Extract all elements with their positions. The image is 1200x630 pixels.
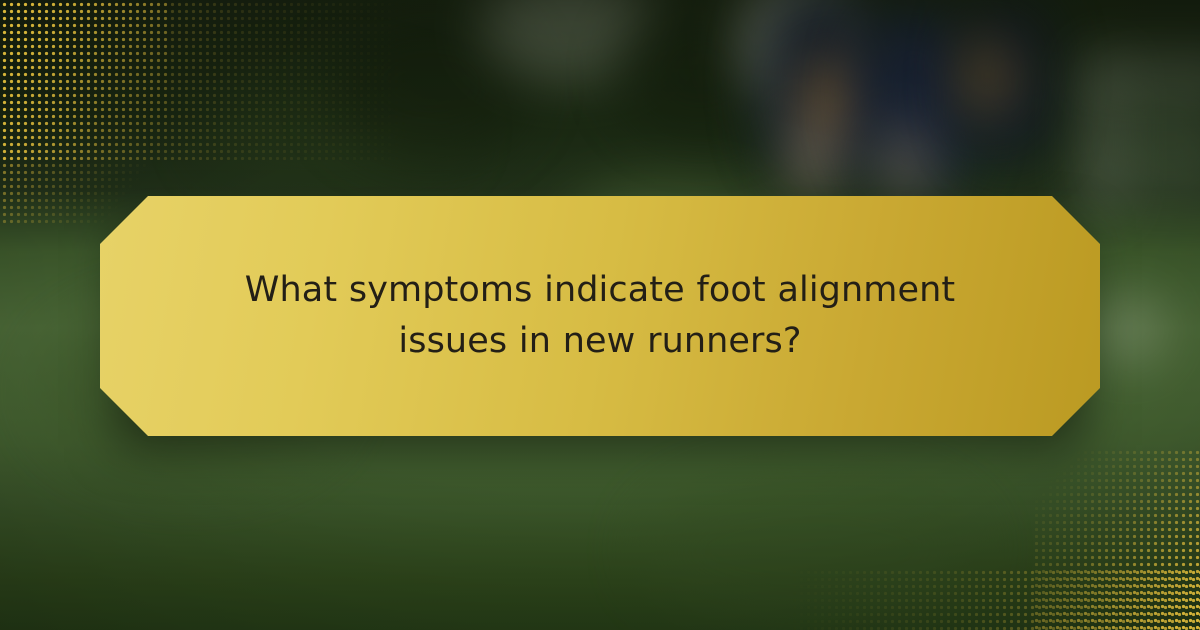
question-text: What symptoms indicate foot alignment is… xyxy=(220,265,980,368)
question-card: What symptoms indicate foot alignment is… xyxy=(100,196,1100,436)
hero-canvas: What symptoms indicate foot alignment is… xyxy=(0,0,1200,630)
